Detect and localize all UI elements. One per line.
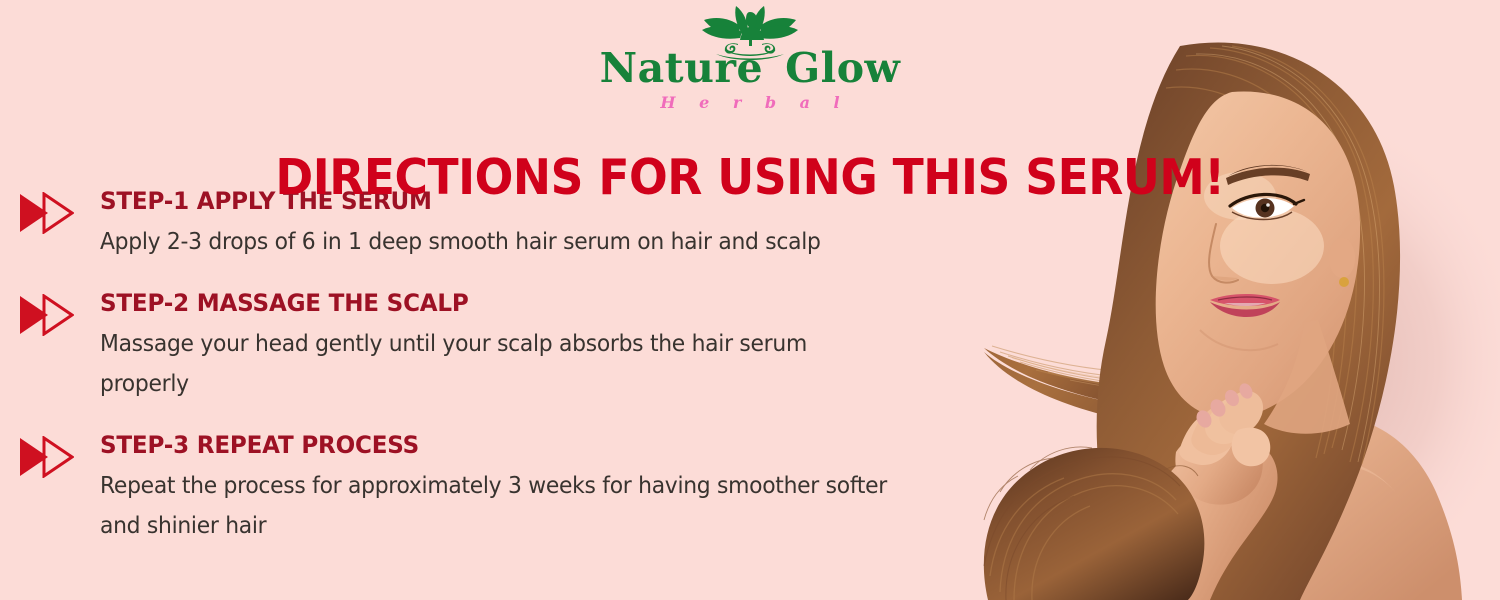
double-arrow-right-icon: [18, 294, 74, 336]
step-item-3: STEP-3 REPEAT PROCESS Repeat the process…: [0, 430, 960, 546]
step-body-1: Apply 2-3 drops of 6 in 1 deep smooth ha…: [100, 222, 889, 262]
step-heading-2: STEP-2 MASSAGE THE SCALP: [100, 288, 926, 318]
step-body-2: Massage your head gently until your scal…: [100, 324, 889, 404]
brand-wordmark: NatureGlow: [600, 48, 901, 89]
step-heading-3: STEP-3 REPEAT PROCESS: [100, 430, 926, 460]
directions-banner: NatureGlow H e r b a l DIRECTIONS FOR US…: [0, 0, 1500, 600]
step-item-2: STEP-2 MASSAGE THE SCALP Massage your he…: [0, 288, 960, 404]
step-body-3: Repeat the process for approximately 3 w…: [100, 466, 889, 546]
steps-list: STEP-1 APPLY THE SERUM Apply 2-3 drops o…: [0, 186, 960, 546]
brand-tagline: H e r b a l: [651, 93, 848, 112]
double-arrow-right-icon: [18, 436, 74, 478]
brand-logo: NatureGlow H e r b a l: [0, 6, 1500, 114]
brand-name-part2: Glow: [785, 44, 900, 92]
page-title: DIRECTIONS FOR USING THIS SERUM!: [53, 149, 1448, 207]
brand-name-part1: Nature: [600, 44, 763, 92]
